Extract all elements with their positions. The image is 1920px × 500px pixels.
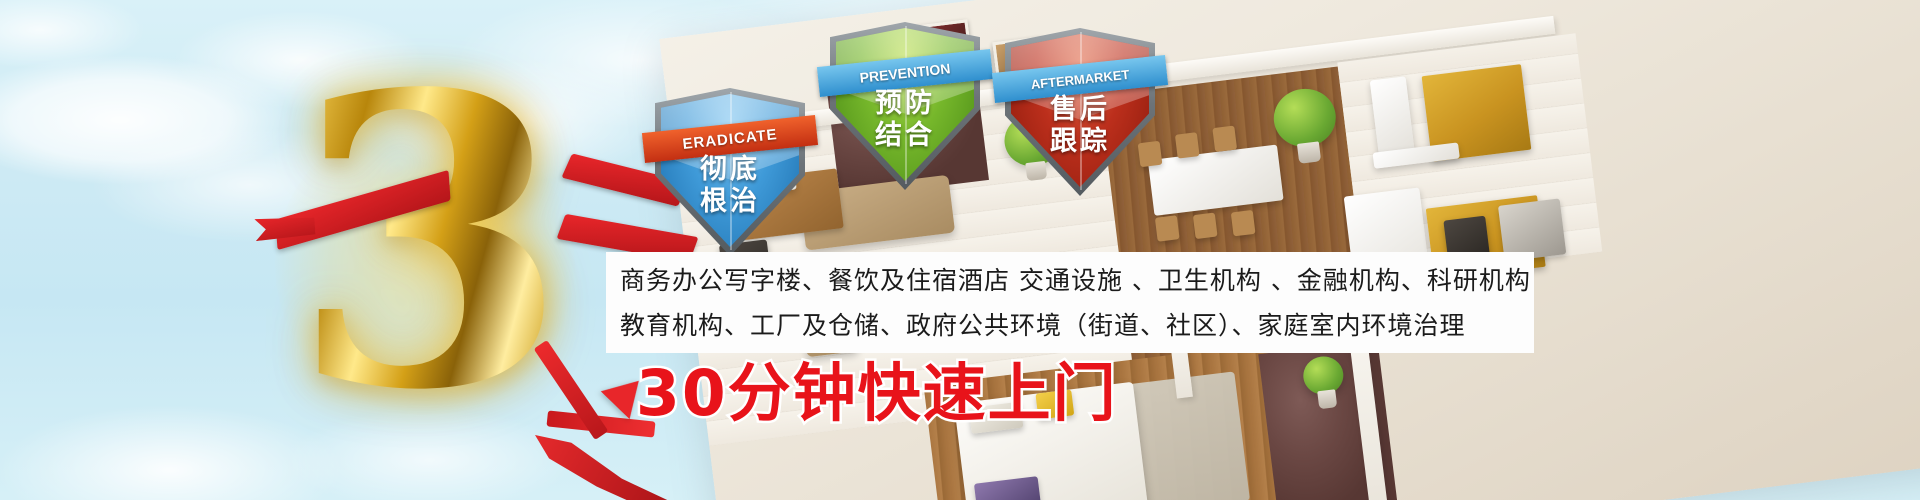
shield-chinese-line1: 预防 <box>830 88 980 120</box>
shield-banner-label: AFTERMARKET <box>1030 66 1130 91</box>
shield-chinese-text: 售后 跟踪 <box>1005 94 1155 158</box>
headline-text: 30分钟快速上门 <box>636 358 1118 430</box>
shield-banner-label: ERADICATE <box>682 126 779 153</box>
shield-chinese-line2: 结合 <box>830 120 980 152</box>
shield-badge-eradicate[interactable]: ERADICATE 彻底 根治 <box>655 88 805 256</box>
shield-badge-aftermarket[interactable]: AFTERMARKET 售后 跟踪 <box>1005 28 1155 196</box>
service-scope-panel: 商务办公写字楼、餐饮及住宿酒店 交通设施 、卫生机构 、金融机构、科研机构 教育… <box>606 252 1534 353</box>
shield-badge-prevention[interactable]: PREVENTION 预防 结合 <box>830 22 980 190</box>
shield-banner-label: PREVENTION <box>859 60 951 85</box>
shield-chinese-line1: 彻底 <box>655 154 805 186</box>
shield-chinese-line2: 跟踪 <box>1005 126 1155 158</box>
shield-chinese-line2: 根治 <box>655 186 805 218</box>
shield-chinese-line1: 售后 <box>1005 94 1155 126</box>
shield-chinese-text: 预防 结合 <box>830 88 980 152</box>
service-scope-line-2: 教育机构、工厂及仓储、政府公共环境（街道、社区）、家庭室内环境治理 <box>606 303 1534 348</box>
arrow-tail <box>535 435 675 500</box>
service-scope-line-1: 商务办公写字楼、餐饮及住宿酒店 交通设施 、卫生机构 、金融机构、科研机构 <box>606 258 1534 303</box>
shield-chinese-text: 彻底 根治 <box>655 154 805 218</box>
promo-banner: 3 ERADICATE 彻底 根治 PREVENTION <box>0 0 1920 500</box>
